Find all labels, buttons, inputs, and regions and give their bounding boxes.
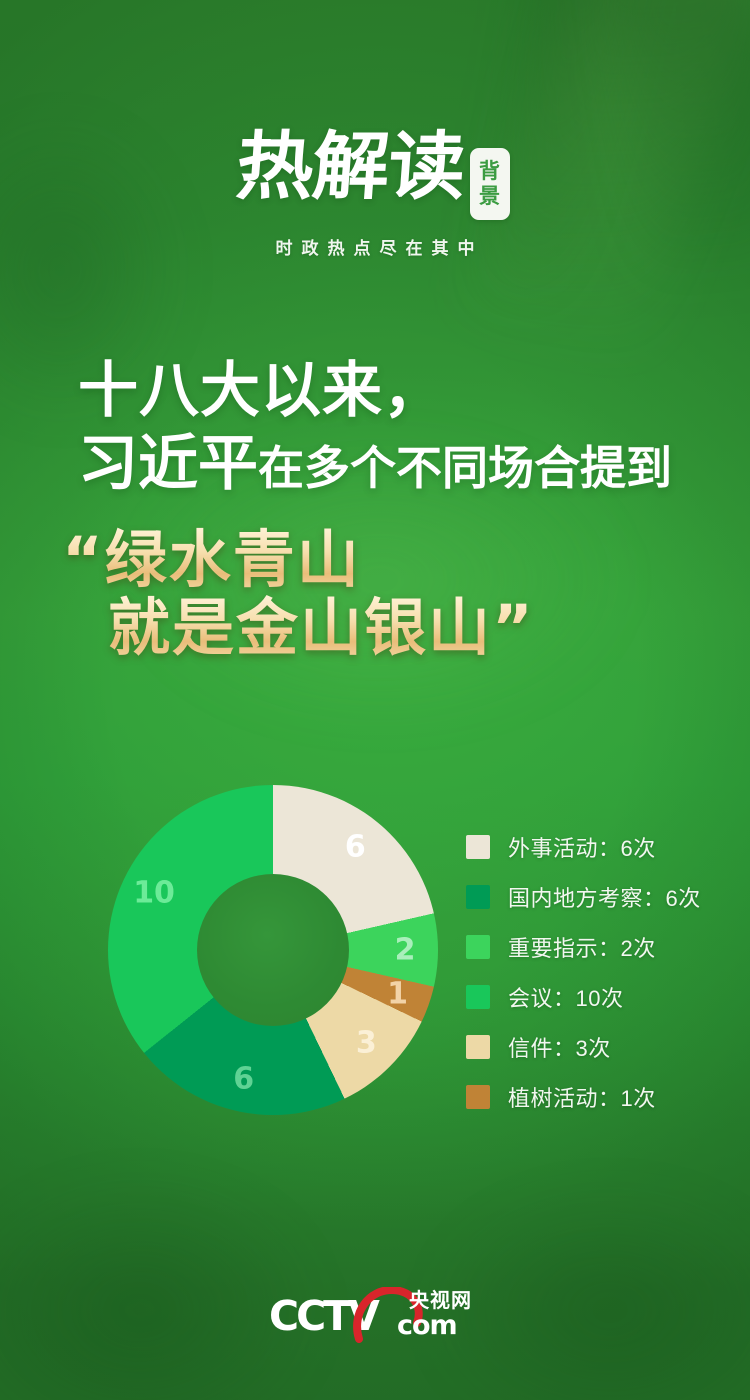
legend-label: 会议：10次	[508, 981, 623, 1013]
legend-label: 国内地方考察：6次	[508, 881, 701, 913]
category-badge: 背 景	[470, 148, 510, 220]
legend-item[interactable]: 植树活动：1次	[466, 1072, 701, 1122]
legend-swatch-icon	[466, 985, 490, 1009]
legend-label: 外事活动：6次	[508, 831, 656, 863]
gold-quote-line-1: “绿水青山	[62, 526, 535, 594]
legend-label: 信件：3次	[508, 1031, 611, 1063]
header: 热解读 背 景 时政热点尽在其中	[0, 128, 750, 259]
brand-logo: 热解读 背 景	[0, 128, 750, 220]
legend-item[interactable]: 国内地方考察：6次	[466, 872, 701, 922]
headline-emphasis: 习近平	[78, 429, 258, 499]
legend-item[interactable]: 重要指示：2次	[466, 922, 701, 972]
legend-swatch-icon	[466, 835, 490, 859]
headline-line-2: 习近平在多个不同场合提到	[78, 432, 710, 500]
chart-legend: 外事活动：6次国内地方考察：6次重要指示：2次会议：10次信件：3次植树活动：1…	[466, 822, 701, 1122]
gold-quote-block: “绿水青山 就是金山银山”	[62, 526, 535, 662]
footer: CCTV 央视网 com	[0, 1288, 750, 1342]
legend-swatch-icon	[466, 1085, 490, 1109]
cctv-logo: CCTV 央视网 com	[269, 1288, 481, 1342]
poster-root: 热解读 背 景 时政热点尽在其中 十八大以来， 习近平在多个不同场合提到 “绿水…	[0, 0, 750, 1400]
legend-label: 重要指示：2次	[508, 931, 656, 963]
legend-item[interactable]: 会议：10次	[466, 972, 701, 1022]
headline-rest: 在多个不同场合提到	[258, 441, 672, 495]
legend-label: 植树活动：1次	[508, 1081, 656, 1113]
category-badge-char-2: 景	[479, 184, 500, 209]
legend-swatch-icon	[466, 885, 490, 909]
gold-quote-line-2: 就是金山银山”	[108, 594, 535, 662]
donut-hole	[197, 874, 349, 1026]
brand-subtitle: 时政热点尽在其中	[0, 234, 750, 259]
cctv-brand-tld: com	[397, 1312, 457, 1340]
legend-swatch-icon	[466, 1035, 490, 1059]
headline-block: 十八大以来， 习近平在多个不同场合提到	[78, 358, 710, 500]
category-badge-char-1: 背	[479, 159, 500, 184]
cctv-brand-cn: 央视网	[409, 1290, 472, 1312]
legend-swatch-icon	[466, 935, 490, 959]
headline-line-1: 十八大以来，	[78, 358, 710, 424]
brand-logo-text: 热解读	[233, 128, 466, 206]
legend-item[interactable]: 信件：3次	[466, 1022, 701, 1072]
legend-item[interactable]: 外事活动：6次	[466, 822, 701, 872]
donut-chart	[108, 785, 438, 1115]
